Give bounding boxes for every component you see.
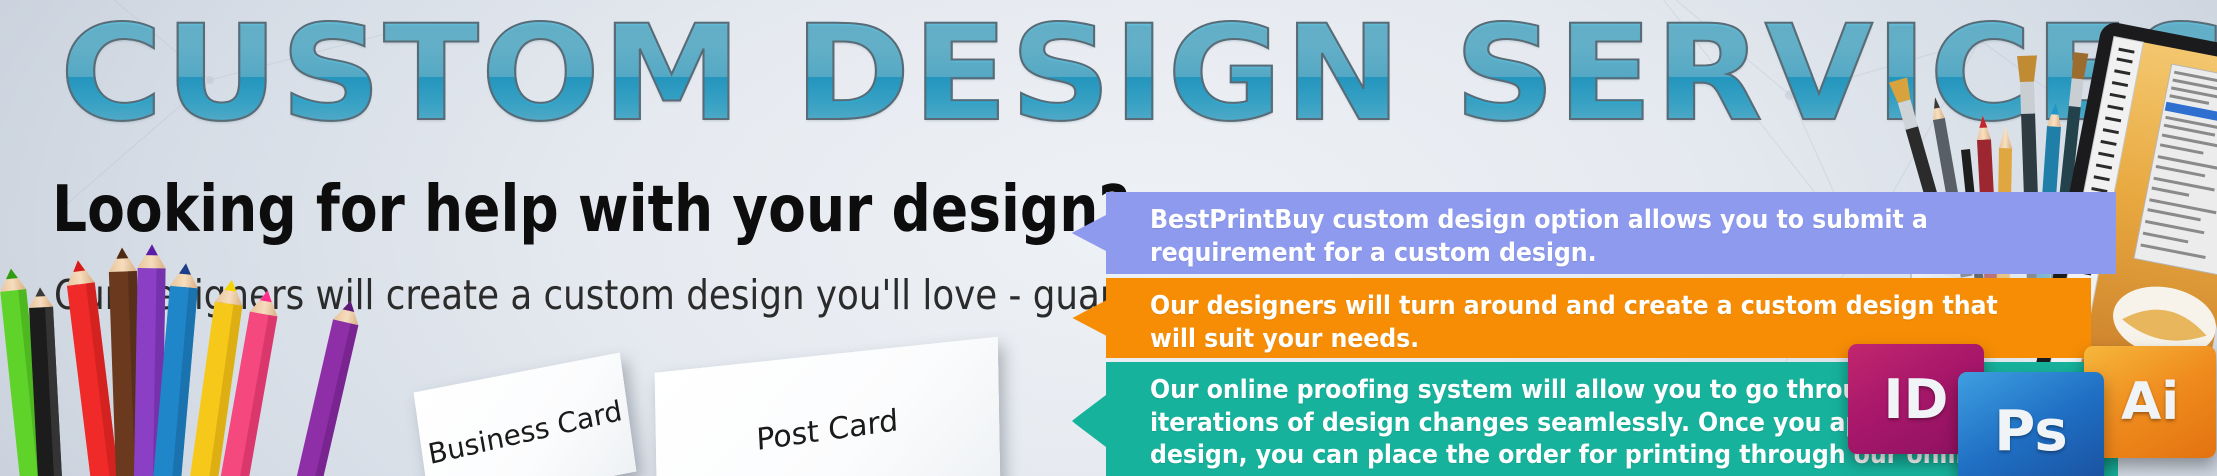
callout-intro[interactable]: BestPrintBuy custom design option allows… — [1106, 192, 2116, 274]
photoshop-label: Ps — [1994, 399, 2067, 464]
post-card-label: Post Card — [756, 403, 899, 458]
photoshop-icon: Ps — [1958, 372, 2104, 476]
indesign-label: ID — [1884, 368, 1949, 431]
colored-pencils-illustration — [0, 236, 410, 476]
headline: Looking for help with your design? — [52, 178, 1130, 242]
custom-design-services-banner: CUSTOM DESIGN SERVICES Looking for help … — [0, 0, 2217, 476]
adobe-app-icons: ID Ai Ps — [1838, 330, 2217, 476]
banner-title-wrap: CUSTOM DESIGN SERVICES — [60, 8, 2112, 140]
post-card-graphic: Post Card — [655, 337, 1001, 476]
callout-arrow-icon — [1072, 392, 1106, 450]
illustrator-label: Ai — [2121, 372, 2179, 432]
callout-intro-text: BestPrintBuy custom design option allows… — [1150, 204, 2032, 269]
business-card-label: Business Card — [426, 393, 625, 470]
business-card-graphic: Business Card — [414, 352, 637, 476]
